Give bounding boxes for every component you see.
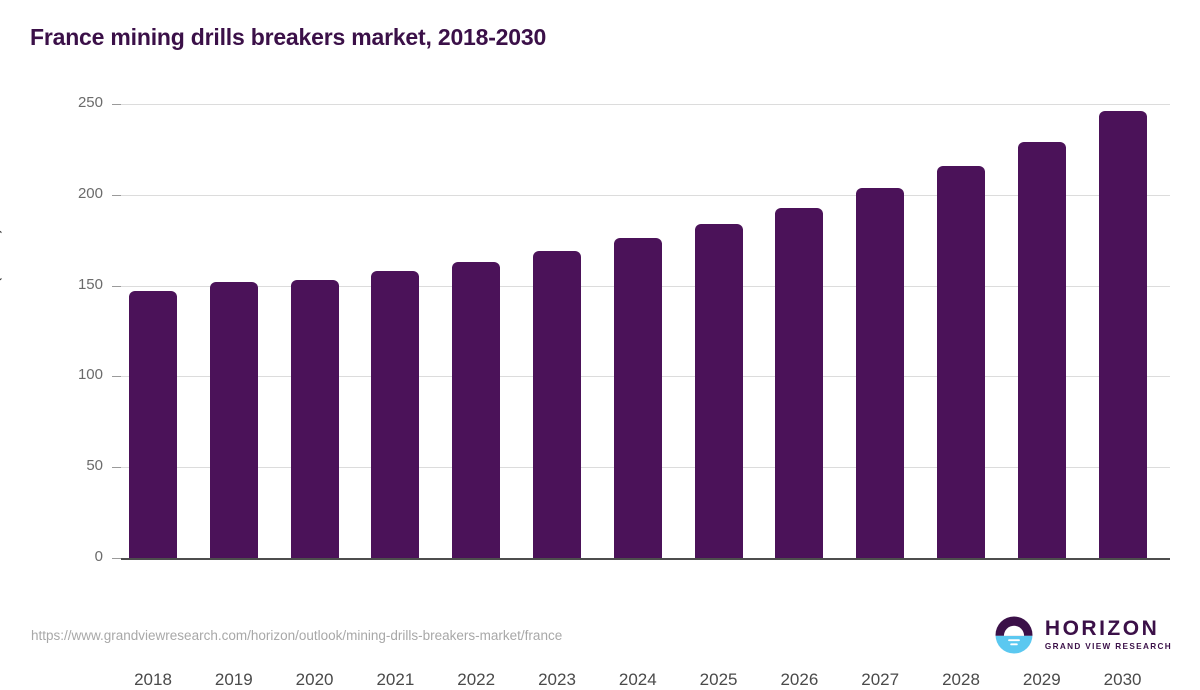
x-axis-tick-label: 2029 bbox=[1002, 670, 1082, 690]
y-axis-title: Market Size (US$M) bbox=[0, 228, 3, 372]
y-axis-tick-label: 150 bbox=[41, 276, 103, 293]
x-axis-tick-label: 2018 bbox=[113, 670, 193, 690]
y-axis-tick-label: 200 bbox=[41, 185, 103, 202]
y-axis-tick-mark bbox=[112, 104, 121, 105]
y-axis-tick-label: 0 bbox=[41, 548, 103, 565]
chart-card: France mining drills breakers market, 20… bbox=[0, 0, 1200, 675]
x-axis-tick-label: 2021 bbox=[355, 670, 435, 690]
bar-2018[interactable] bbox=[129, 291, 177, 558]
y-axis-tick-label: 50 bbox=[41, 457, 103, 474]
x-axis-tick-label: 2024 bbox=[598, 670, 678, 690]
gridline bbox=[121, 195, 1170, 196]
bar-2024[interactable] bbox=[614, 238, 662, 558]
plot-area: 0501001502002502018201920202021202220232… bbox=[121, 104, 1170, 558]
x-axis-tick-label: 2030 bbox=[1083, 670, 1163, 690]
bar-2021[interactable] bbox=[371, 271, 419, 558]
x-axis-tick-label: 2022 bbox=[436, 670, 516, 690]
bar-2025[interactable] bbox=[695, 224, 743, 558]
bar-2020[interactable] bbox=[291, 280, 339, 558]
x-axis-tick-label: 2027 bbox=[840, 670, 920, 690]
y-axis-tick-label: 250 bbox=[41, 94, 103, 111]
logo-primary-text: HORIZON bbox=[1045, 618, 1172, 639]
bar-2026[interactable] bbox=[775, 208, 823, 558]
x-axis-tick-label: 2026 bbox=[759, 670, 839, 690]
bar-2019[interactable] bbox=[210, 282, 258, 558]
x-axis-tick-label: 2028 bbox=[921, 670, 1001, 690]
x-axis-tick-label: 2023 bbox=[517, 670, 597, 690]
y-axis-tick-mark bbox=[112, 558, 121, 559]
bar-2030[interactable] bbox=[1099, 111, 1147, 558]
y-axis-tick-mark bbox=[112, 195, 121, 196]
source-url[interactable]: https://www.grandviewresearch.com/horizo… bbox=[31, 628, 562, 643]
gridline bbox=[121, 558, 1170, 560]
y-axis-tick-label: 100 bbox=[41, 366, 103, 383]
horizon-logo-icon bbox=[993, 614, 1035, 656]
brand-logo: HORIZON GRAND VIEW RESEARCH bbox=[993, 614, 1172, 656]
logo-text: HORIZON GRAND VIEW RESEARCH bbox=[1045, 618, 1172, 651]
x-axis-tick-label: 2025 bbox=[679, 670, 759, 690]
bar-2029[interactable] bbox=[1018, 142, 1066, 558]
bar-2028[interactable] bbox=[937, 166, 985, 558]
y-axis-tick-mark bbox=[112, 376, 121, 377]
logo-secondary-text: GRAND VIEW RESEARCH bbox=[1045, 643, 1172, 651]
y-axis-tick-mark bbox=[112, 286, 121, 287]
x-axis-tick-label: 2020 bbox=[275, 670, 355, 690]
chart-plot-wrapper: Market Size (US$M) 050100150200250201820… bbox=[0, 0, 1200, 600]
bar-2022[interactable] bbox=[452, 262, 500, 558]
bar-2023[interactable] bbox=[533, 251, 581, 558]
gridline bbox=[121, 104, 1170, 105]
bar-2027[interactable] bbox=[856, 188, 904, 558]
x-axis-tick-label: 2019 bbox=[194, 670, 274, 690]
y-axis-tick-mark bbox=[112, 467, 121, 468]
